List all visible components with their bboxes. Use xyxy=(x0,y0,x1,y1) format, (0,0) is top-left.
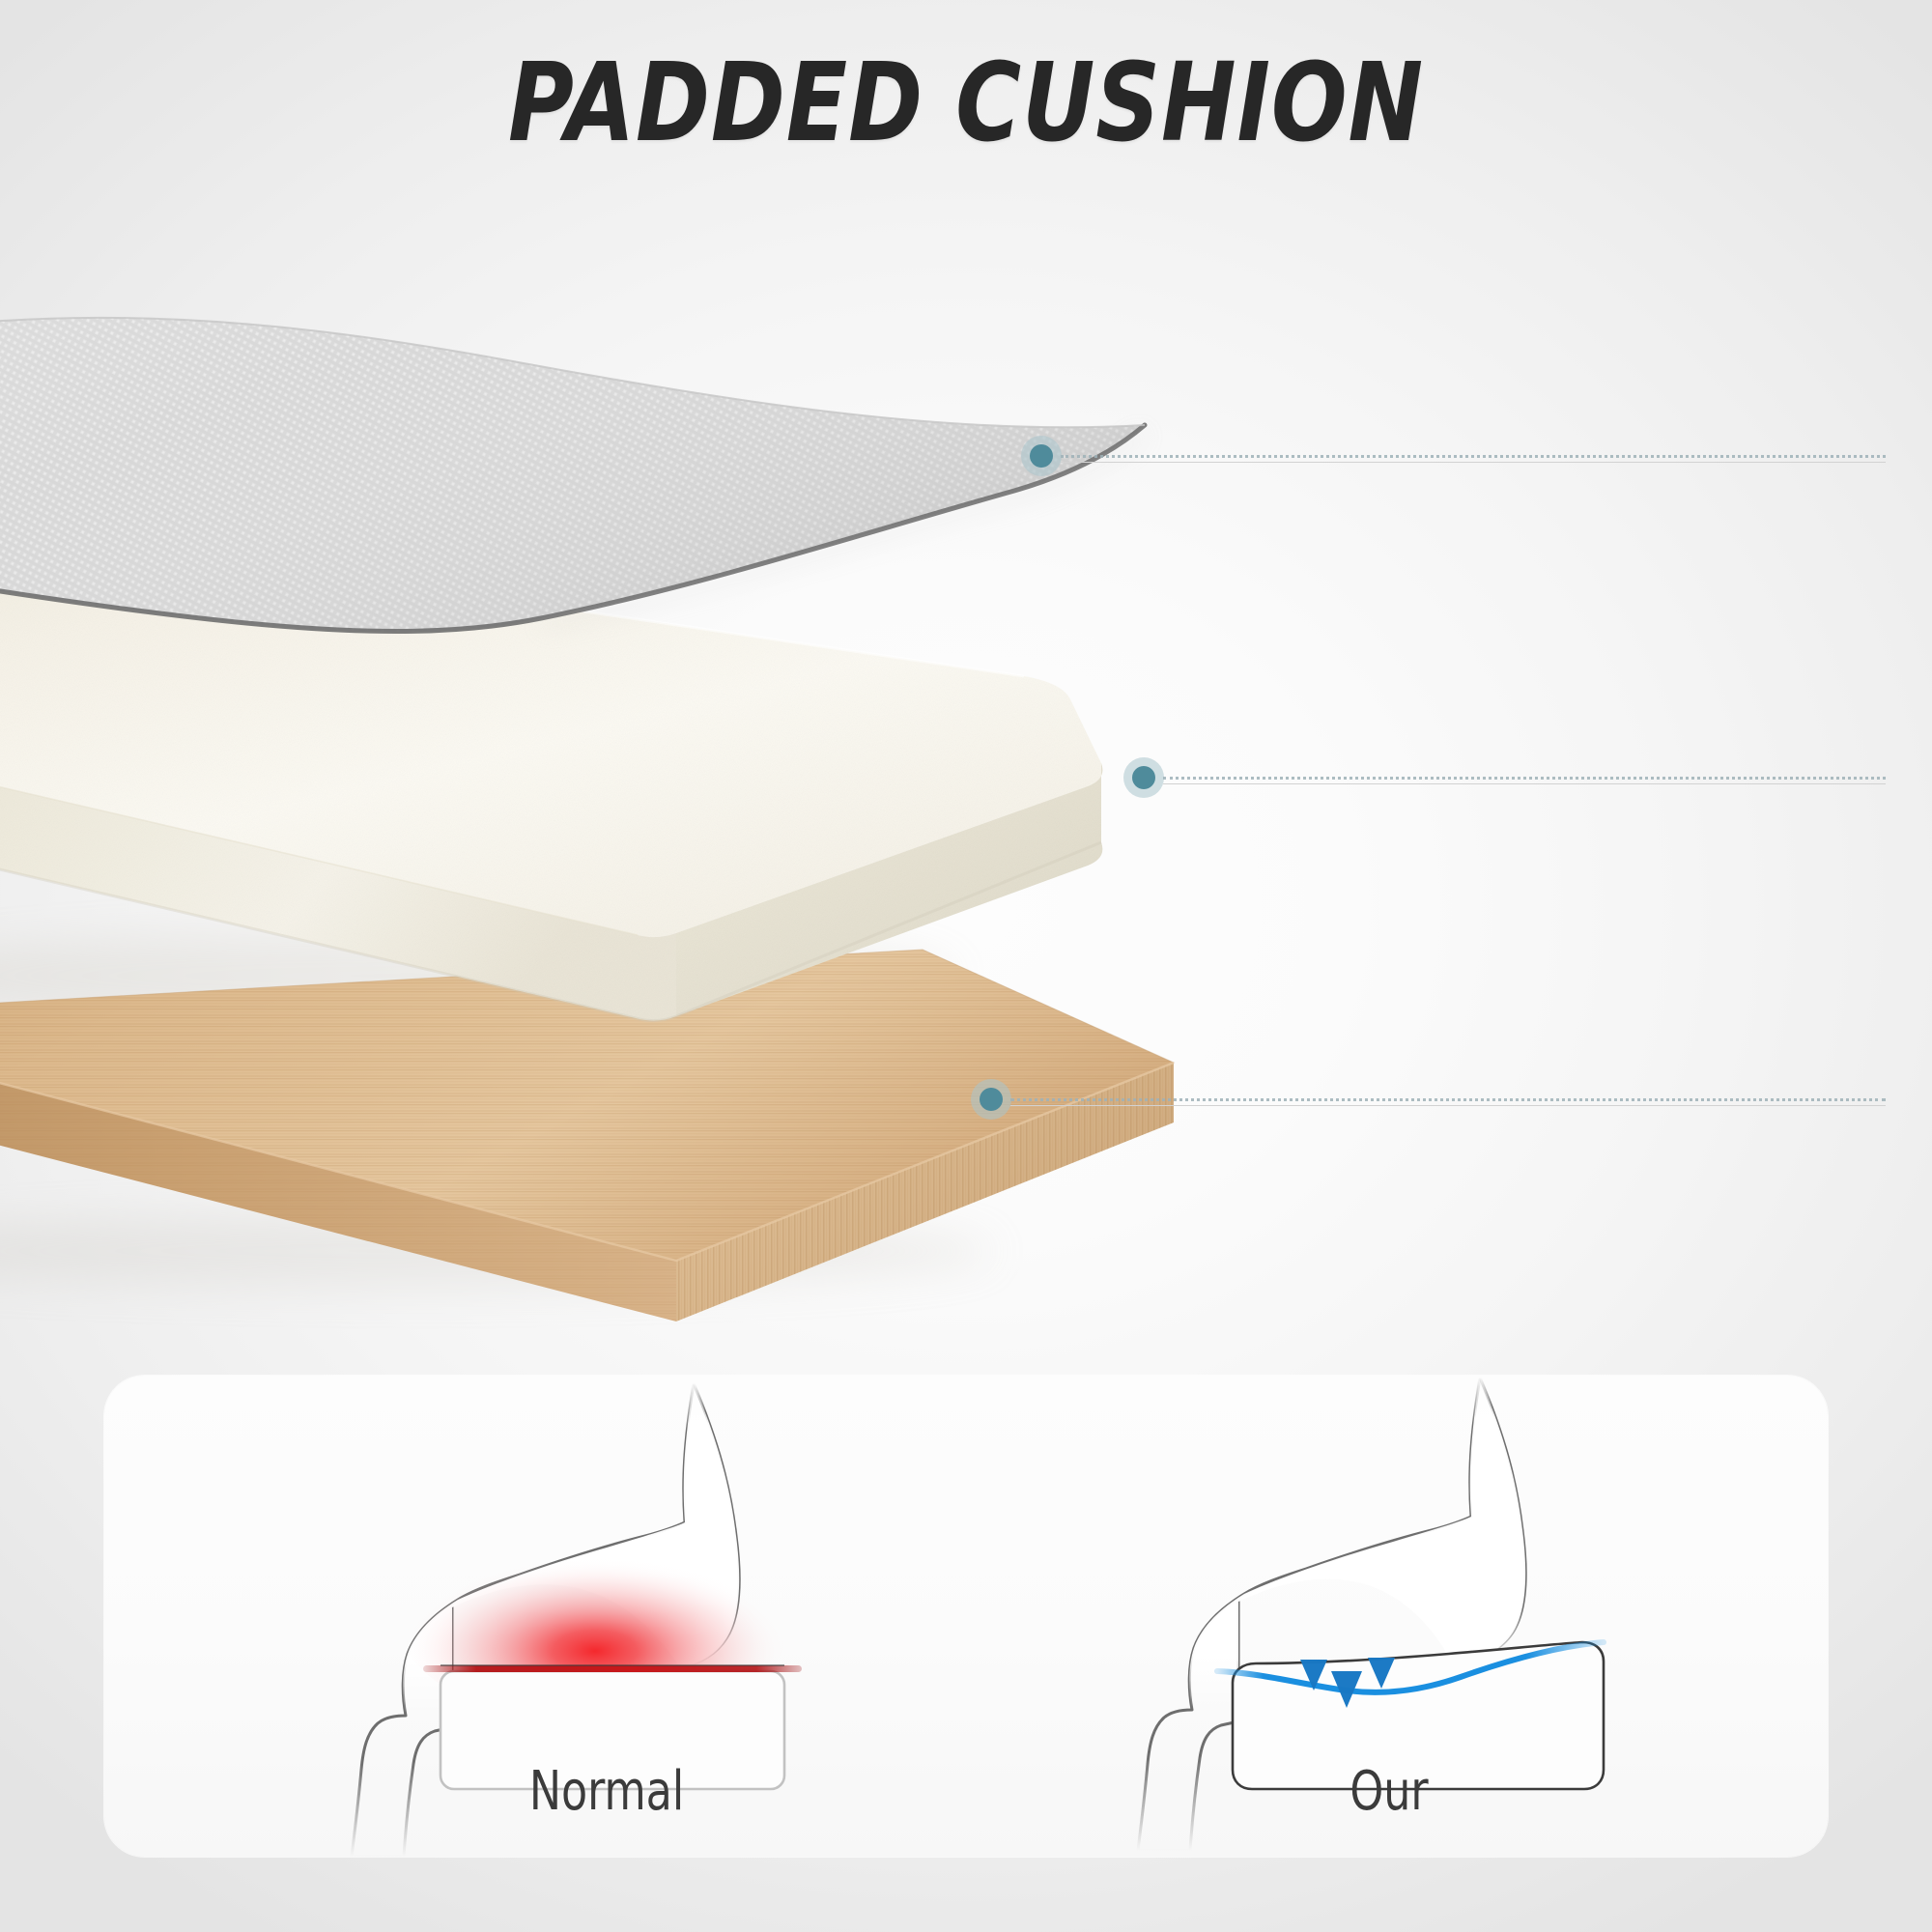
callout-dot-icon[interactable] xyxy=(1123,757,1164,798)
callout-leader-line xyxy=(1010,1098,1886,1101)
callout-dot-core xyxy=(980,1088,1003,1111)
callout-baseline-rule xyxy=(1010,1105,1886,1106)
callout-baseline-rule xyxy=(1163,783,1886,784)
callout-baseline-rule xyxy=(1061,462,1886,463)
exploded-layer-illustration xyxy=(0,0,1932,1352)
infographic-canvas: PADDED CUSHION xyxy=(0,0,1932,1932)
layer-fabric xyxy=(0,318,1145,632)
callout-leader-line xyxy=(1061,455,1886,458)
callout-dot-icon[interactable] xyxy=(1021,436,1062,476)
comparison-panel: Normal Our xyxy=(104,1376,1828,1857)
comparison-label-our: Our xyxy=(1304,1760,1474,1823)
callout-dot-icon[interactable] xyxy=(971,1079,1011,1120)
comparison-label-normal: Normal xyxy=(522,1760,692,1823)
callout-dot-core xyxy=(1132,766,1155,789)
callout-leader-line xyxy=(1163,777,1886,780)
callout-dot-core xyxy=(1030,444,1053,468)
